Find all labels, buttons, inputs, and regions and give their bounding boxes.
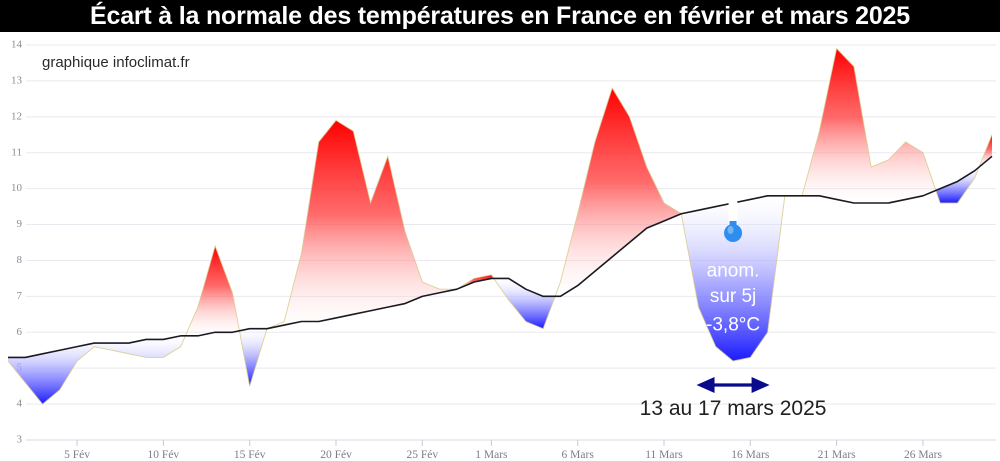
cold-anomaly-area (239, 329, 267, 386)
y-tick-label: 10 (11, 182, 23, 194)
x-tick-label: 10 Fév (148, 449, 180, 461)
anomaly-fills (8, 49, 992, 405)
date-range-label: 13 au 17 mars 2025 (640, 397, 827, 420)
y-tick-label: 3 (17, 434, 23, 446)
annotation-line-3: -3,8°C (706, 314, 760, 335)
annotation-line-2: sur 5j (710, 286, 756, 307)
chart-area: 34567891011121314 5 Fév10 Fév15 Fév20 Fé… (0, 32, 1000, 461)
y-tick-label: 6 (17, 326, 23, 338)
y-tick-label: 14 (11, 39, 23, 51)
page-title: Écart à la normale des températures en F… (90, 2, 910, 31)
x-tick-label: 6 Mars (562, 449, 595, 461)
x-tick-label: 21 Mars (818, 449, 857, 461)
y-tick-label: 11 (11, 146, 22, 158)
warm-anomaly-area (555, 88, 681, 296)
annotation-line-1: anom. (707, 261, 760, 282)
y-tick-label: 13 (11, 74, 23, 86)
y-tick-label: 4 (17, 398, 23, 410)
temperature-anomaly-chart: 34567891011121314 5 Fév10 Fév15 Fév20 Fé… (0, 32, 1000, 461)
x-tick-label: 11 Mars (645, 449, 683, 461)
x-tick-label: 5 Fév (64, 449, 90, 461)
warm-anomaly-area (802, 49, 936, 203)
y-tick-label: 12 (11, 110, 22, 122)
x-tick-label: 20 Fév (320, 449, 352, 461)
y-tick-label: 8 (17, 254, 23, 266)
x-tick-label: 26 Mars (904, 449, 943, 461)
x-tick-label: 1 Mars (475, 449, 508, 461)
x-tick-label: 16 Mars (731, 449, 770, 461)
date-range-arrow (697, 377, 770, 393)
title-bar: Écart à la normale des températures en F… (0, 0, 1000, 32)
y-axis-labels: 34567891011121314 (11, 39, 23, 446)
chart-page: Écart à la normale des températures en F… (0, 0, 1000, 461)
x-axis-labels: 5 Fév10 Fév15 Fév20 Fév25 Fév1 Mars6 Mar… (26, 440, 996, 461)
x-tick-label: 15 Fév (234, 449, 266, 461)
y-tick-label: 9 (17, 218, 23, 230)
y-tick-label: 7 (17, 290, 23, 302)
x-tick-label: 25 Fév (407, 449, 439, 461)
